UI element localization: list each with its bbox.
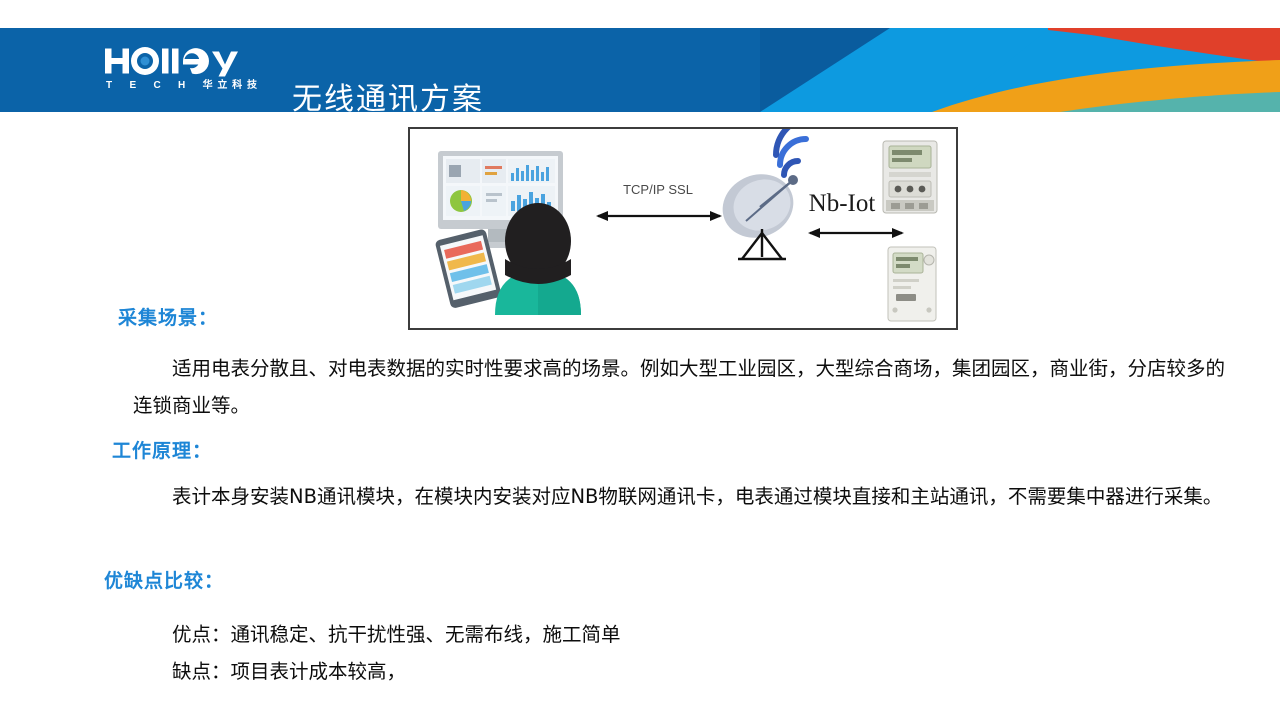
page-title: 无线通讯方案 [292, 74, 484, 112]
holley-logo-subtitle: T E C H 华 立 科 技 [106, 80, 258, 92]
holley-wordmark-icon [104, 44, 259, 78]
section-body-scene: 适用电表分散且、对电表数据的实时性要求高的场景。例如大型工业园区，大型综合商场，… [133, 350, 1233, 424]
operator-at-dashboard-illustration [435, 151, 581, 315]
logo-letter-h: H [178, 80, 186, 92]
architecture-diagram: TCP/IP SSL Nb-Iot [408, 127, 958, 330]
section-heading-principle: 工作原理： [112, 436, 212, 463]
architecture-diagram-svg: TCP/IP SSL Nb-Iot [410, 129, 956, 328]
bidirectional-arrow-left [596, 211, 722, 221]
header-swoosh-graphic [760, 28, 1280, 112]
slide-header-band: T E C H 华 立 科 技 无线通讯方案 [0, 28, 1280, 112]
electric-meter-top-icon [883, 141, 937, 213]
section-body-principle: 表计本身安装NB通讯模块，在模块内安装对应NB物联网通讯卡，电表通过模块直接和主… [133, 478, 1223, 515]
satellite-dish-icon [713, 129, 814, 259]
logo-subtitle-cn: 华 立 科 技 [203, 80, 258, 92]
section-heading-scene: 采集场景： [118, 303, 218, 330]
electric-meter-bottom-icon [888, 247, 936, 321]
logo-letter-t: T [106, 80, 113, 92]
holley-logo: T E C H 华 立 科 技 [104, 44, 264, 100]
section-heading-comparison: 优缺点比较： [104, 566, 224, 593]
comparison-pros: 优点：通讯稳定、抗干扰性强、无需布线，施工简单 [172, 616, 621, 653]
link-label-right: Nb-Iot [809, 190, 876, 217]
logo-letter-c: C [153, 80, 161, 92]
comparison-cons: 缺点：项目表计成本较高， [172, 653, 406, 690]
logo-letter-e: E [129, 80, 137, 92]
bidirectional-arrow-right [808, 228, 904, 238]
link-label-left: TCP/IP SSL [623, 182, 693, 197]
